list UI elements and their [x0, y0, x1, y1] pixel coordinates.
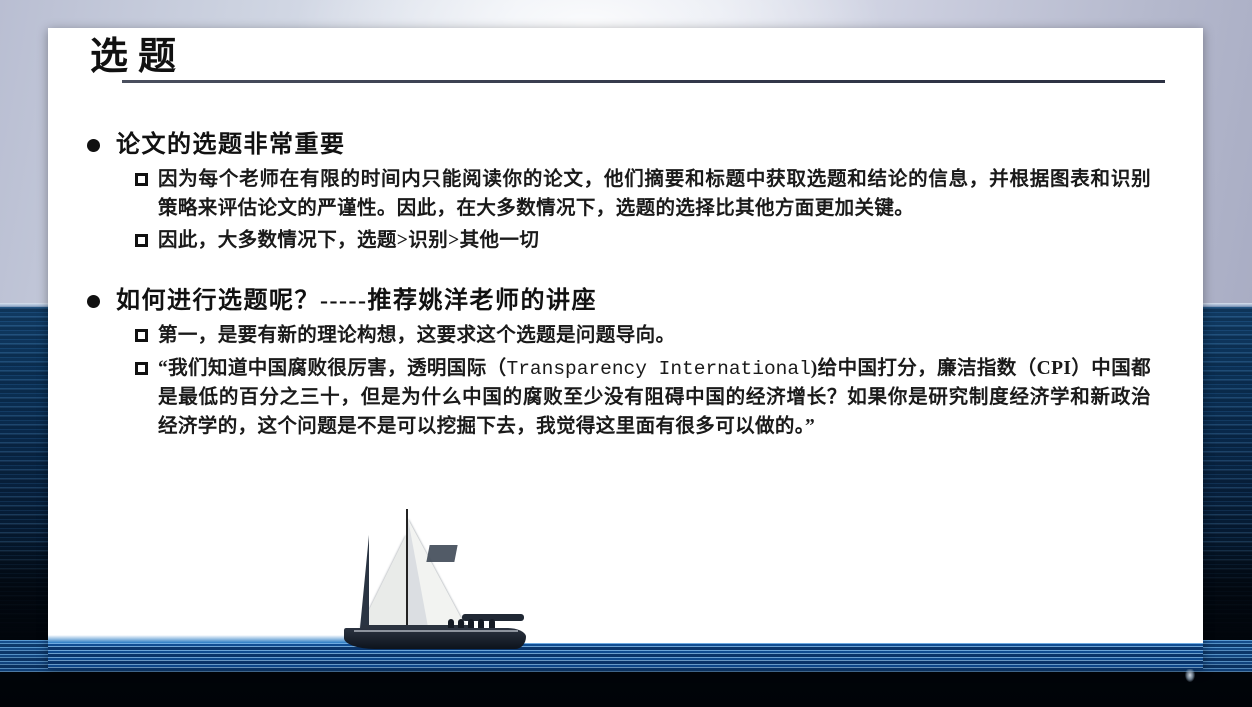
- filled-circle-bullet-icon: [87, 295, 100, 308]
- page-title: 选题: [88, 36, 1163, 80]
- water-highlight: [48, 635, 366, 643]
- bullet-level1-label: 论文的选题非常重要: [116, 130, 346, 162]
- bullet-level2-label: 第一，是要有新的理论构想，这要求这个选题是问题导向。: [158, 322, 675, 351]
- water-glint-icon: [1185, 668, 1195, 682]
- bullet-level2-quote: “我们知道中国腐败很厉害，透明国际（Transparency Internati…: [158, 355, 1151, 442]
- sailboat-photo: [48, 509, 1203, 669]
- sailboat-icon: [344, 509, 534, 649]
- ocean-water: [48, 643, 1203, 669]
- mast: [406, 509, 408, 628]
- hollow-square-bullet-icon: [135, 362, 148, 375]
- bullet-level2-item: 因此，大多数情况下，选题>识别>其他一切: [84, 227, 1174, 256]
- bullet-level2-item: 因为每个老师在有限的时间内只能阅读你的论文，他们摘要和标题中获取选题和结论的信息…: [84, 166, 1174, 224]
- bullet-level1-item: 如何进行选题呢？-----推荐姚洋老师的讲座: [84, 286, 1174, 318]
- jib-sail-shadow: [360, 535, 369, 628]
- sail-logo: [426, 545, 457, 562]
- quote-text-before: “我们知道中国腐败很厉害，透明国际（: [158, 358, 507, 379]
- quote-organization-name: Transparency International: [507, 358, 811, 380]
- bullet-level2-label: 因此，大多数情况下，选题>识别>其他一切: [158, 227, 539, 256]
- bullet-level2-item: “我们知道中国腐败很厉害，透明国际（Transparency Internati…: [84, 355, 1174, 442]
- bullet-level1-label: 如何进行选题呢？-----推荐姚洋老师的讲座: [116, 286, 597, 318]
- filled-circle-bullet-icon: [87, 139, 100, 152]
- hollow-square-bullet-icon: [135, 173, 148, 186]
- section-spacer: [84, 256, 1174, 282]
- bullet-level2-item: 第一，是要有新的理论构想，这要求这个选题是问题导向。: [84, 322, 1174, 351]
- bullet-level2-label: 因为每个老师在有限的时间内只能阅读你的论文，他们摘要和标题中获取选题和结论的信息…: [158, 166, 1151, 224]
- title-underline-rule: [122, 80, 1165, 83]
- hull-stripe: [354, 630, 518, 632]
- slide-card: 选题 论文的选题非常重要 因为每个老师在有限的时间内只能阅读你的论文，他们摘要和…: [48, 28, 1203, 669]
- screen-background: 选题 论文的选题非常重要 因为每个老师在有限的时间内只能阅读你的论文，他们摘要和…: [0, 0, 1252, 707]
- slide-body: 论文的选题非常重要 因为每个老师在有限的时间内只能阅读你的论文，他们摘要和标题中…: [84, 126, 1174, 441]
- bullet-level1-item: 论文的选题非常重要: [84, 130, 1174, 162]
- slide-title-block: 选题: [88, 36, 1163, 80]
- mainsail-shadow: [408, 519, 428, 627]
- hollow-square-bullet-icon: [135, 234, 148, 247]
- hollow-square-bullet-icon: [135, 329, 148, 342]
